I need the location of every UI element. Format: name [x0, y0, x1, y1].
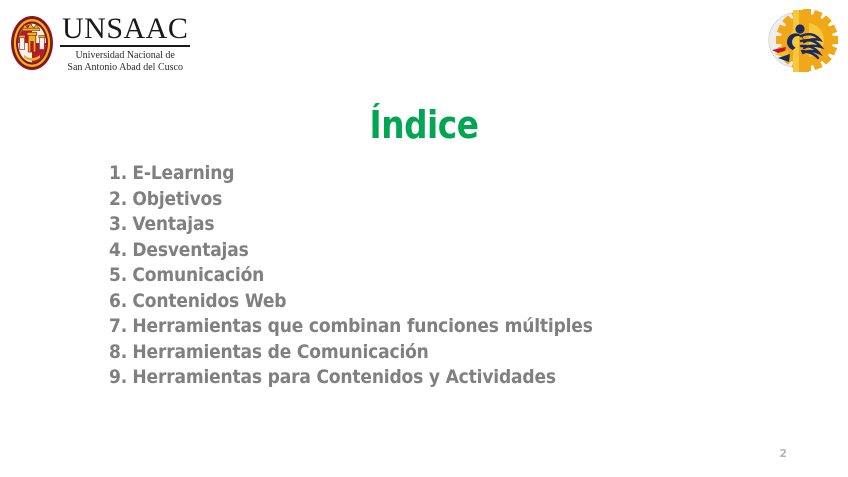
list-item-number: 9.: [109, 365, 132, 391]
list-item-label: Comunicación: [132, 263, 264, 289]
list-item-label: Contenidos Web: [132, 289, 286, 315]
list-item: 5. Comunicación: [109, 263, 593, 289]
list-item-label: Ventajas: [132, 212, 214, 238]
list-item: 7. Herramientas que combinan funciones m…: [109, 314, 593, 340]
university-subtitle-line-1: Universidad Nacional de: [67, 50, 183, 62]
list-item-number: 2.: [109, 187, 132, 213]
list-item-number: 6.: [109, 289, 132, 315]
list-item-number: 5.: [109, 263, 132, 289]
list-item-label: Herramientas de Comunicación: [132, 340, 428, 366]
list-item-number: 3.: [109, 212, 132, 238]
unsaac-brand-lockup: UNSAAC Universidad Nacional de San Anton…: [10, 12, 190, 74]
list-item-number: 4.: [109, 238, 132, 264]
page-number: 2: [779, 447, 787, 460]
list-item-label: Herramientas para Contenidos y Actividad…: [132, 365, 555, 391]
list-item: 4. Desventajas: [109, 238, 593, 264]
list-item-number: 1.: [109, 161, 132, 187]
list-item: 6. Contenidos Web: [109, 289, 593, 315]
brand-text-block: UNSAAC Universidad Nacional de San Anton…: [60, 12, 190, 74]
list-item: 1. E-Learning: [109, 161, 593, 187]
list-item: 3. Ventajas: [109, 212, 593, 238]
list-item-number: 7.: [109, 314, 132, 340]
unsaac-wordmark: UNSAAC: [60, 14, 190, 47]
agenda-list: 1. E-Learning 2. Objetivos 3. Ventajas 4…: [109, 161, 646, 391]
list-item-label: Objetivos: [132, 187, 222, 213]
university-subtitle-line-2: San Antonio Abad del Cusco: [67, 62, 183, 74]
list-item: 2. Objetivos: [109, 187, 593, 213]
faculty-gear-emblem-icon: [760, 6, 840, 76]
list-item-label: E-Learning: [132, 161, 234, 187]
list-item: 9. Herramientas para Contenidos y Activi…: [109, 365, 593, 391]
unsaac-coat-of-arms-icon: [10, 15, 54, 71]
list-item-label: Desventajas: [132, 238, 248, 264]
list-item-label: Herramientas que combinan funciones múlt…: [132, 314, 592, 340]
university-subtitle: Universidad Nacional de San Antonio Abad…: [67, 50, 183, 74]
list-item-number: 8.: [109, 340, 132, 366]
presentation-slide: UNSAAC Universidad Nacional de San Anton…: [0, 0, 848, 477]
page-title: Índice: [59, 103, 788, 147]
list-item: 8. Herramientas de Comunicación: [109, 340, 593, 366]
